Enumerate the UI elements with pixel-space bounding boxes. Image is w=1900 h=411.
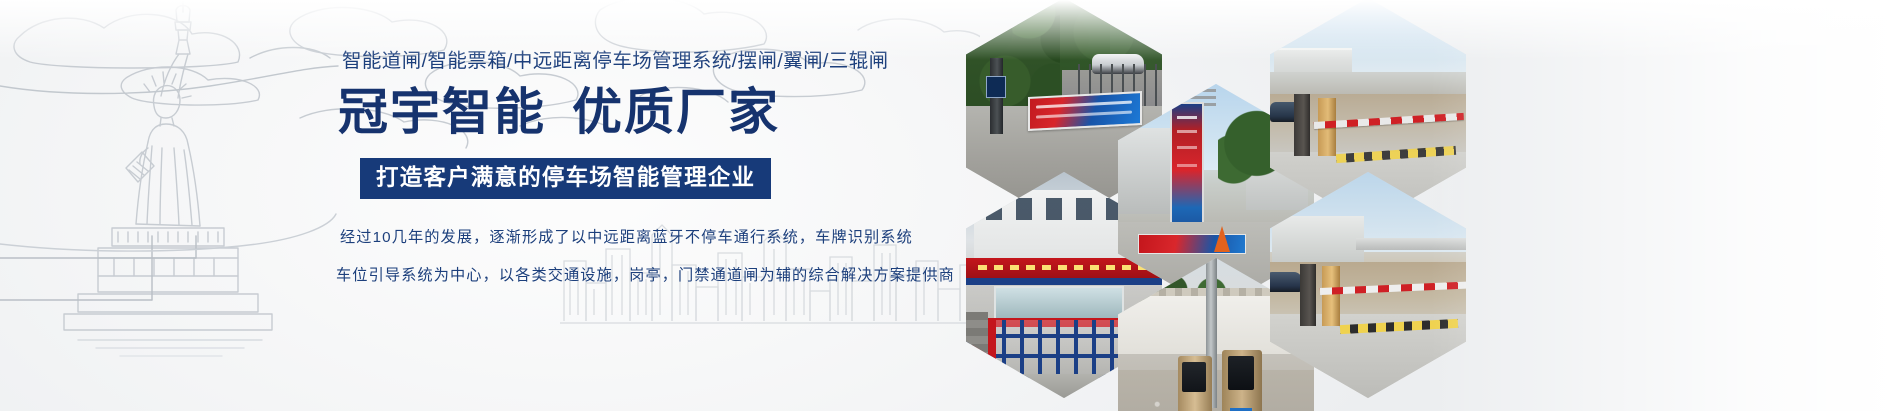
- parked-car: [1270, 272, 1302, 292]
- glass-facade: [994, 286, 1124, 320]
- barrier-cabinet-dark: [1300, 264, 1316, 326]
- banner-headline: 冠宇智能优质厂家: [338, 82, 958, 142]
- traffic-cone: [1214, 226, 1230, 252]
- distant-bridge: [1356, 238, 1466, 250]
- headline-right: 优质厂家: [572, 83, 780, 141]
- advertising-barrier-arm: [1028, 91, 1142, 131]
- banner-ribbon-slogan: 打造客户满意的停车场智能管理企业: [360, 158, 771, 199]
- machine-screen-left: [1182, 362, 1206, 392]
- stone-pillar: [966, 312, 988, 392]
- paragraph-line-2: 车位引导系统为中心，以各类交通设施，岗亭，门禁通道闸为辅的综合解决方案提供商: [336, 257, 958, 295]
- paragraph-line-1: 经过10几年的发展，逐渐形成了以中远距离蓝牙不停车通行系统，车牌识别系统: [340, 219, 958, 257]
- banner-text-block: 智能道闸/智能票箱/中远距离停车场管理系统/摆闸/翼闸/三辊闸 冠宇智能优质厂家…: [338, 48, 958, 295]
- banner-eyebrow: 智能道闸/智能票箱/中远距离停车场管理系统/摆闸/翼闸/三辊闸: [342, 48, 958, 74]
- building-windows: [986, 198, 1136, 220]
- barrier-cabinet-dark: [1294, 94, 1310, 156]
- promo-banner: 智能道闸/智能票箱/中远距离停车场管理系统/摆闸/翼闸/三辊闸 冠宇智能优质厂家…: [0, 0, 1900, 411]
- distant-building: [1272, 216, 1364, 264]
- machine-screen-right: [1228, 356, 1254, 390]
- right-fade-overlay: [1430, 0, 1900, 411]
- banner-paragraph: 经过10几年的发展，逐渐形成了以中远距离蓝牙不停车通行系统，车牌识别系统 车位引…: [338, 219, 958, 295]
- hexagon-photo-grid: P: [948, 0, 1468, 411]
- headline-left: 冠宇智能: [338, 83, 546, 141]
- control-box: [986, 76, 1006, 98]
- blue-trim-band: [966, 278, 1162, 285]
- barrier-cabinet-gold: [1322, 266, 1340, 326]
